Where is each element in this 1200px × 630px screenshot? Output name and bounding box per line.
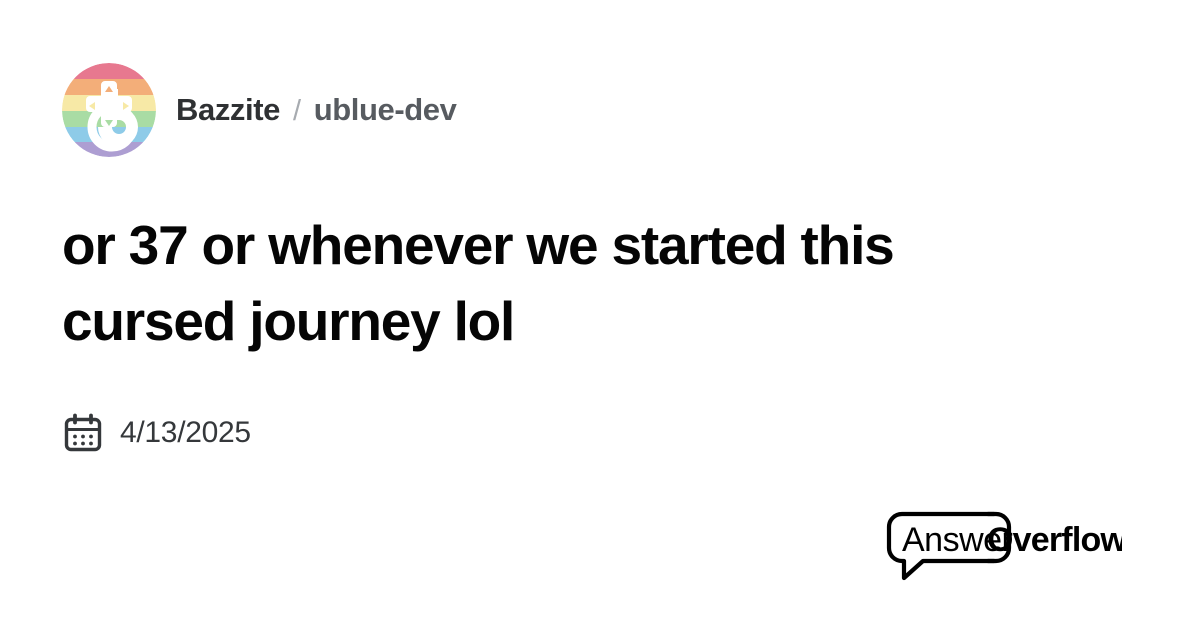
post-date: 4/13/2025 — [62, 412, 1140, 454]
bazzite-logo-icon — [62, 63, 156, 157]
avatar — [62, 63, 156, 157]
open-graph-card: Bazzite / ublue-dev or 37 or whenever we… — [0, 0, 1200, 630]
server-header: Bazzite / ublue-dev — [62, 62, 1140, 158]
answer-overflow-logo: Answer Overflow — [884, 510, 1122, 582]
date-text: 4/13/2025 — [120, 416, 251, 450]
channel-name: ublue-dev — [314, 92, 457, 128]
server-name: Bazzite — [176, 92, 280, 128]
calendar-icon — [62, 412, 104, 454]
page-title: or 37 or whenever we started this cursed… — [62, 208, 1062, 360]
logo-word-overflow: Overflow — [987, 521, 1122, 559]
breadcrumb: Bazzite / ublue-dev — [176, 92, 457, 128]
breadcrumb-separator: / — [293, 95, 301, 128]
